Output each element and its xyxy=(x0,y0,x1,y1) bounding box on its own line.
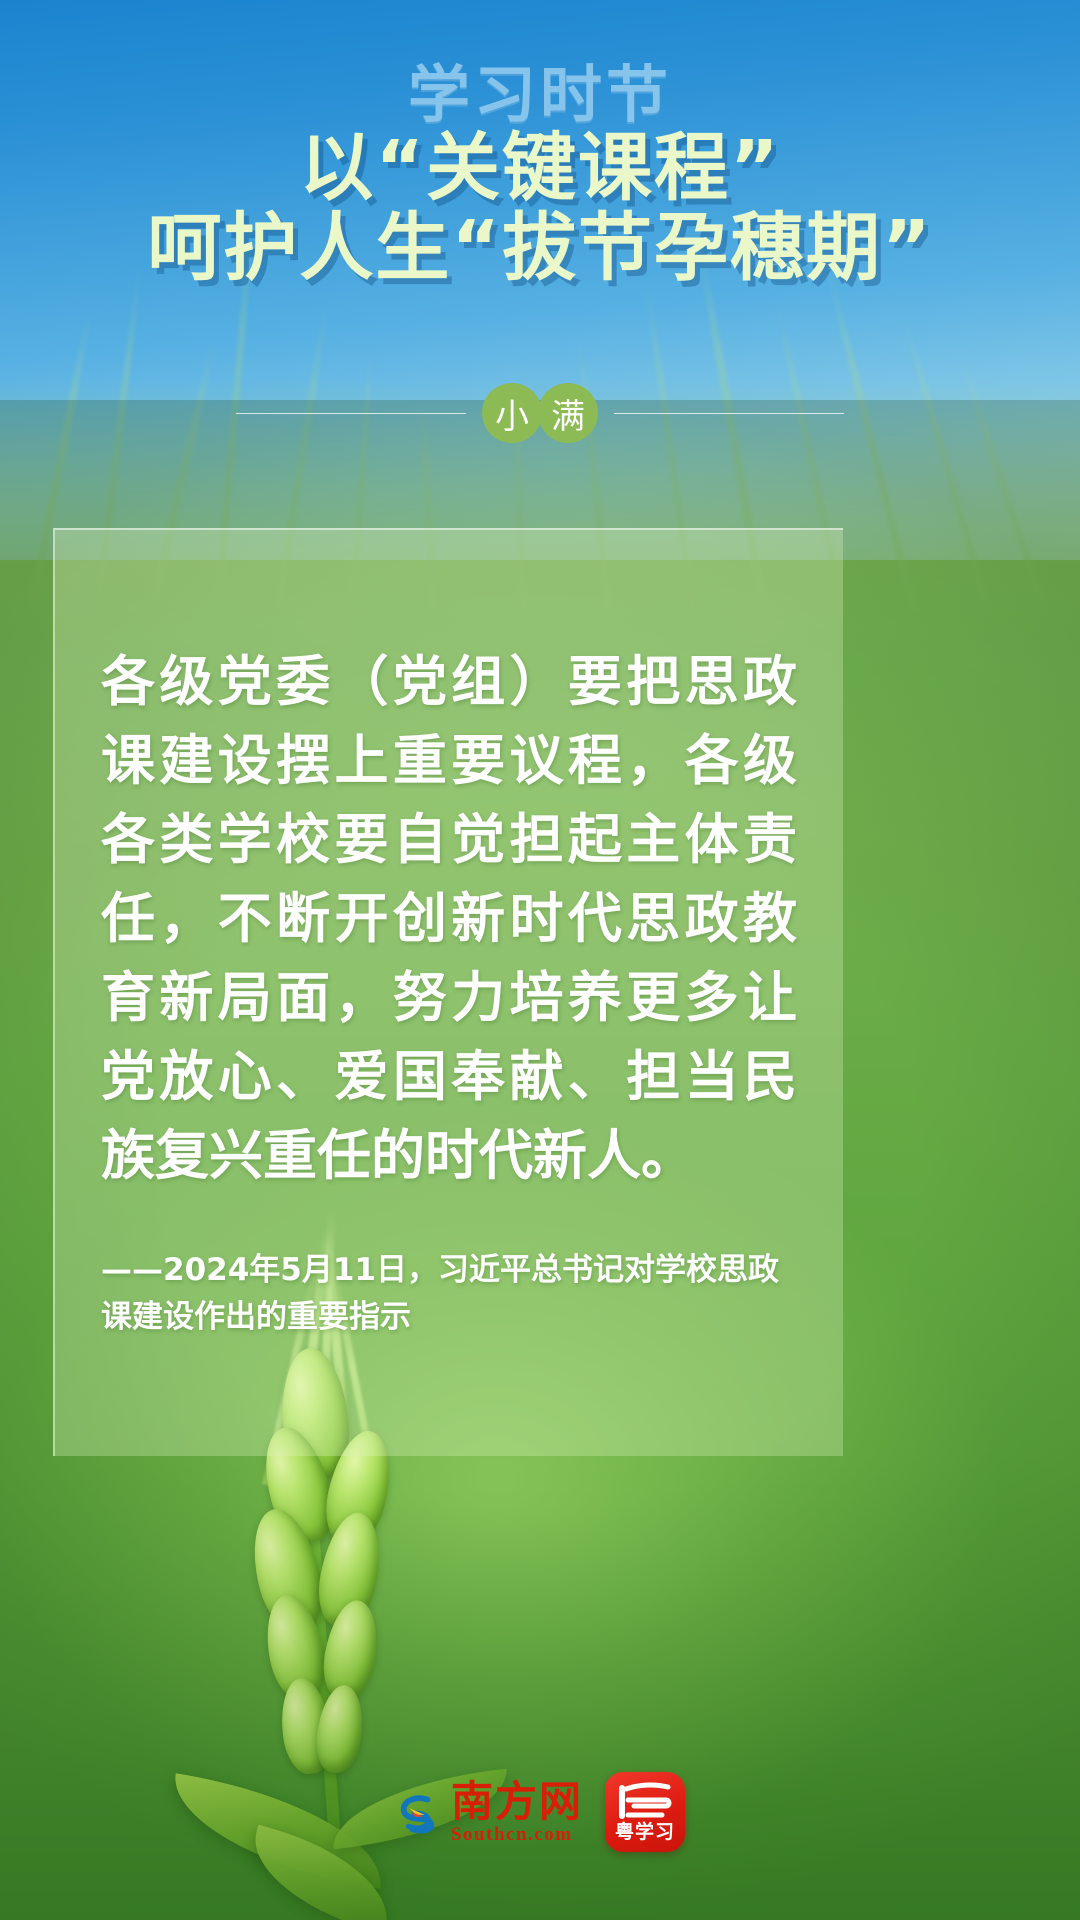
yuexuexi-logo[interactable]: 粤学习 xyxy=(605,1772,685,1852)
yuexuexi-label: 粤学习 xyxy=(615,1817,675,1844)
southcn-logo[interactable]: 南方网 Southcn.com xyxy=(395,1780,583,1845)
quote-text: 各级党委（党组）要把思政课建设摆上重要议程，各级各类学校要自觉担起主体责任，不断… xyxy=(101,642,797,1195)
quote-panel-content: 各级党委（党组）要把思政课建设摆上重要议程，各级各类学校要自觉担起主体责任，不断… xyxy=(55,530,843,1456)
title-line-2: 呵护人生“拔节孕穗期” xyxy=(0,208,1080,288)
southcn-name-cn: 南方网 xyxy=(451,1780,583,1824)
solar-term-badge: 小 满 xyxy=(0,383,1080,443)
quote-attribution: ——2024年5月11日，习近平总书记对学校思政课建设作出的重要指示 xyxy=(101,1247,797,1341)
solar-term-circles: 小 满 xyxy=(484,383,596,443)
solar-term-char-2: 满 xyxy=(538,383,598,443)
brand-header: 学习时节 xyxy=(0,44,1080,134)
solar-term-char-1: 小 xyxy=(482,383,542,443)
southcn-mark-icon xyxy=(395,1789,441,1835)
southcn-name-en: Southcn.com xyxy=(451,1825,573,1845)
poster-root: 学习时节 以“关键课程” 呵护人生“拔节孕穗期” 小 满 各级党委（党组）要把思… xyxy=(0,0,1080,1920)
divider-line-left xyxy=(236,413,466,414)
footer-logos: 南方网 Southcn.com 粤学习 xyxy=(0,1772,1080,1852)
southcn-wordmark: 南方网 Southcn.com xyxy=(451,1780,583,1845)
yuexuexi-mark-icon xyxy=(616,1782,674,1822)
quote-panel: 各级党委（党组）要把思政课建设摆上重要议程，各级各类学校要自觉担起主体责任，不断… xyxy=(53,528,843,1456)
brand-title: 学习时节 xyxy=(408,44,672,134)
divider-line-right xyxy=(614,413,844,414)
title-line-1: 以“关键课程” xyxy=(0,128,1080,208)
page-title: 以“关键课程” 呵护人生“拔节孕穗期” xyxy=(0,128,1080,288)
